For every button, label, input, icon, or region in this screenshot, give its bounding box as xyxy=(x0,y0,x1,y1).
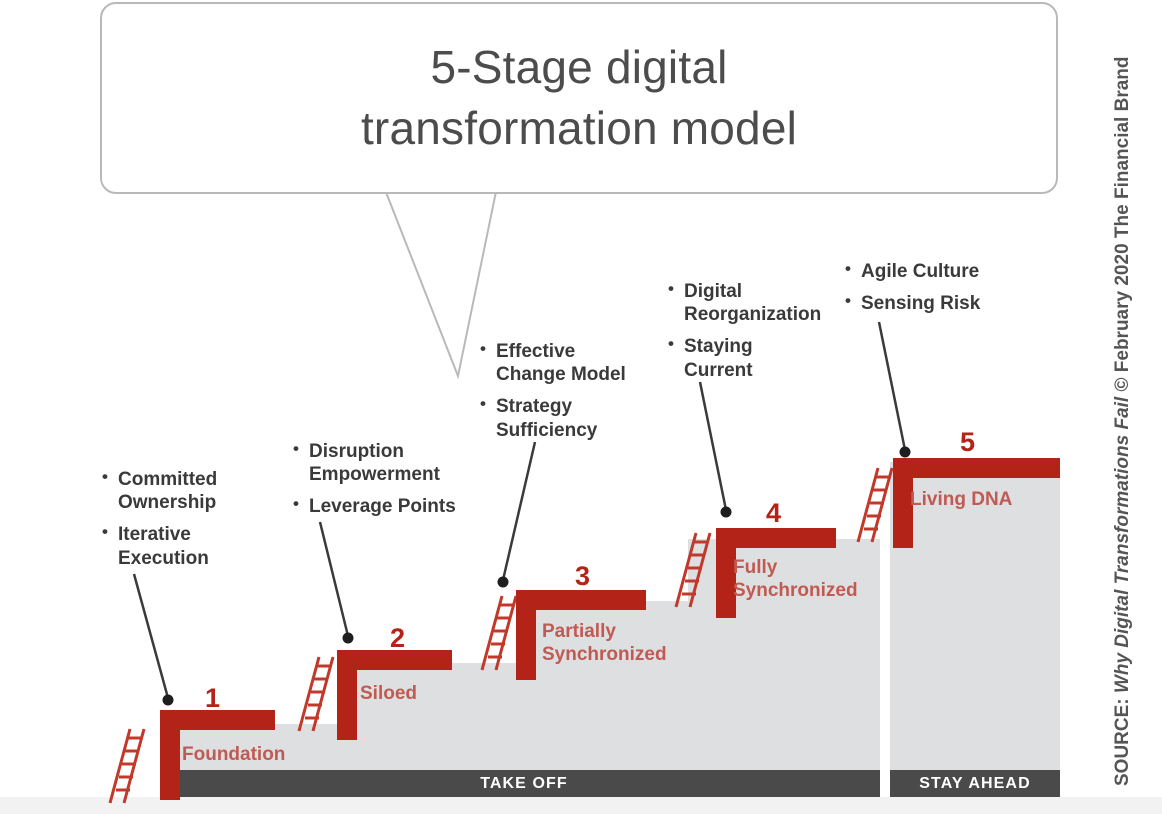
callout-stage-5: Agile Culture Sensing Risk xyxy=(843,260,1018,324)
callout-bullet: Committed Ownership xyxy=(100,468,280,514)
band-stay-ahead: STAY AHEAD xyxy=(890,770,1060,797)
ladder-icon-0 xyxy=(104,727,148,805)
page-title: 5-Stage digital transformation model xyxy=(361,37,797,158)
source-attribution: SOURCE: Why Digital Transformations Fail… xyxy=(1082,0,1122,790)
infographic-canvas: TAKE OFF STAY AHEAD 1 2 3 4 5 Foundation… xyxy=(0,0,1162,814)
stage-number-2: 2 xyxy=(390,623,405,654)
leader-line-1 xyxy=(120,570,180,710)
source-prefix: SOURCE: xyxy=(1112,698,1133,786)
callout-bullet: Iterative Execution xyxy=(100,523,280,569)
ladder-icon-2 xyxy=(476,594,520,672)
callout-bullet: Leverage Points xyxy=(291,495,491,518)
stage-number-1: 1 xyxy=(205,683,220,714)
callout-bullet: Agile Culture xyxy=(843,260,1018,283)
callout-bullet: Staying Current xyxy=(666,335,846,381)
stage-name-2: Siloed xyxy=(360,682,417,705)
callout-stage-4: Digital Reorganization Staying Current xyxy=(666,280,846,391)
stage-number-5: 5 xyxy=(960,427,975,458)
callout-bullet: Strategy Sufficiency xyxy=(478,395,658,441)
callout-stage-2: Disruption Empowerment Leverage Points xyxy=(291,440,491,528)
title-speech-bubble: 5-Stage digital transformation model xyxy=(100,2,1058,194)
source-report-title: Why Digital Transformations Fail xyxy=(1112,397,1133,693)
speech-bubble-tail xyxy=(380,180,500,380)
callout-stage-1: Committed Ownership Iterative Execution xyxy=(100,468,280,579)
ladder-icon-1 xyxy=(293,655,337,733)
leader-line-3 xyxy=(485,438,555,593)
callout-bullet: Effective Change Model xyxy=(478,340,658,386)
stage-number-3: 3 xyxy=(575,561,590,592)
source-suffix: © February 2020 The Financial Brand xyxy=(1112,57,1133,392)
callout-stage-3: Effective Change Model Strategy Sufficie… xyxy=(478,340,658,451)
leader-line-5 xyxy=(865,318,925,463)
band-stay-ahead-label: STAY AHEAD xyxy=(919,775,1030,793)
callout-bullet: Sensing Risk xyxy=(843,292,1018,315)
stage-name-1: Foundation xyxy=(182,743,285,766)
callout-bullet: Digital Reorganization xyxy=(666,280,846,326)
ladder-icon-4 xyxy=(852,466,896,544)
bracket-horizontal-bar xyxy=(516,590,646,610)
leader-line-2 xyxy=(310,518,370,648)
band-take-off-label: TAKE OFF xyxy=(480,775,568,793)
ladder-icon-3 xyxy=(670,531,714,609)
bracket-horizontal-bar xyxy=(716,528,836,548)
stage-number-4: 4 xyxy=(766,498,781,529)
stage-name-3: Partially Synchronized xyxy=(542,620,667,666)
callout-bullet: Disruption Empowerment xyxy=(291,440,491,486)
stage-name-5: Living DNA xyxy=(910,488,1012,511)
leader-line-4 xyxy=(690,378,750,523)
stage-name-4: Fully Synchronized xyxy=(733,556,858,602)
